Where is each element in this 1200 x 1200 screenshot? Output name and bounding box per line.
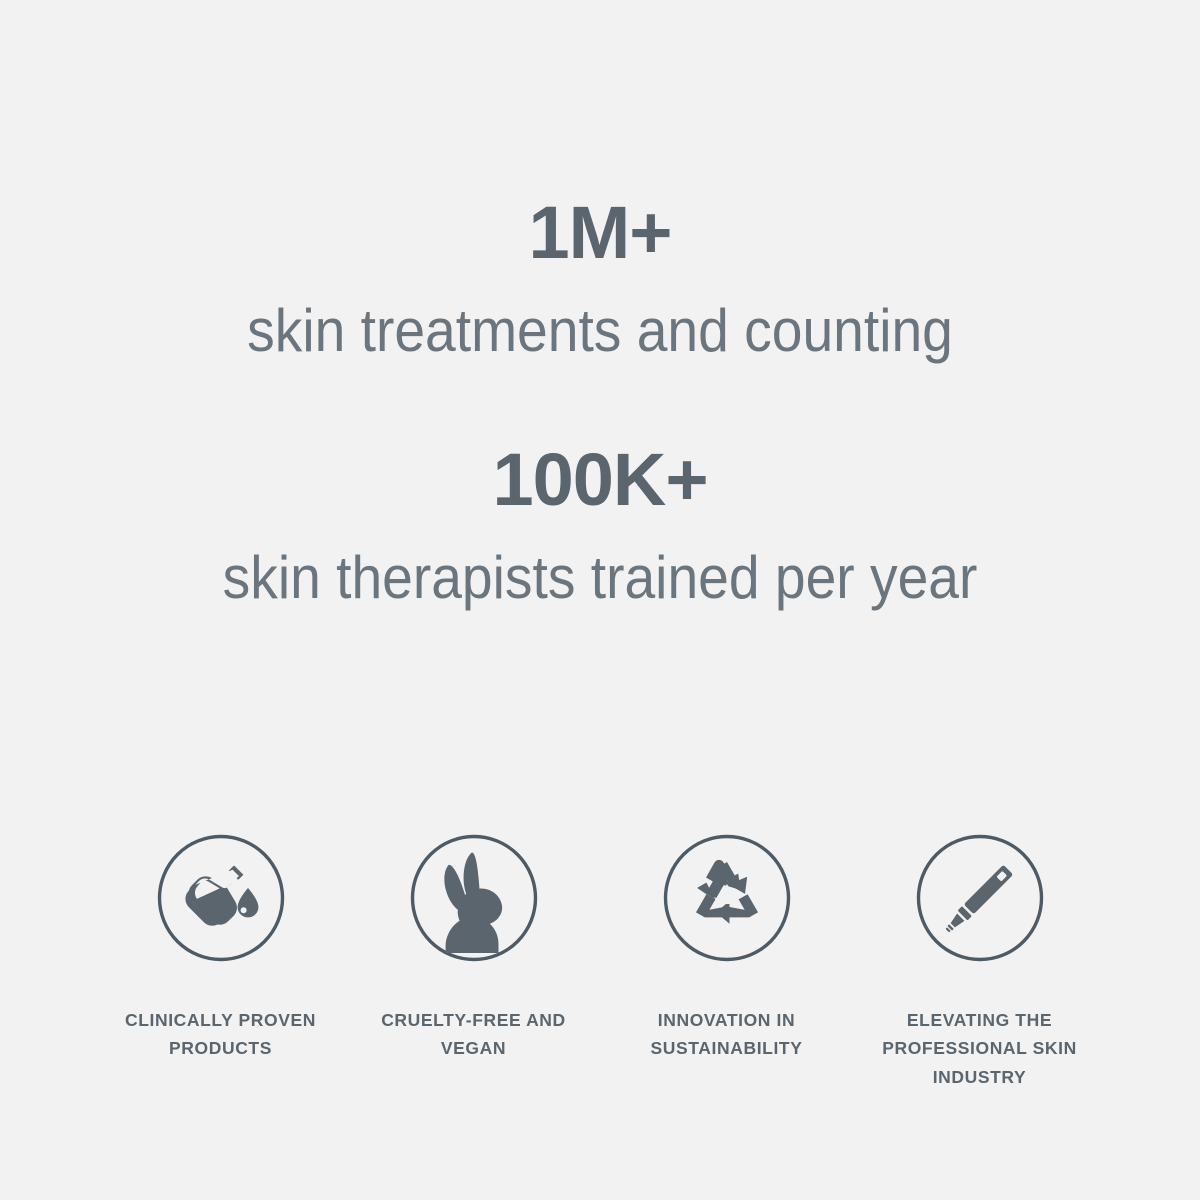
badge-label-professional-skin: ELEVATING THE PROFESSIONAL SKIN INDUSTRY bbox=[858, 1006, 1102, 1091]
stat-group-treatments: 1M+ skin treatments and counting bbox=[0, 196, 1200, 365]
badge-label-sustainability: INNOVATION IN SUSTAINABILITY bbox=[621, 1006, 833, 1063]
stat-group-therapists: 100K+ skin therapists trained per year bbox=[0, 443, 1200, 612]
badges-row: CLINICALLY PROVEN PRODUCTS CRUELTY- bbox=[94, 832, 1106, 1091]
stat-number-therapists: 100K+ bbox=[0, 443, 1200, 517]
rabbit-icon bbox=[408, 832, 540, 964]
brand-stats-panel: 1M+ skin treatments and counting 100K+ s… bbox=[0, 0, 1200, 1200]
badge-sustainability: INNOVATION IN SUSTAINABILITY bbox=[600, 832, 853, 1063]
badge-label-clinically-proven: CLINICALLY PROVEN PRODUCTS bbox=[94, 1006, 347, 1063]
badge-clinically-proven: CLINICALLY PROVEN PRODUCTS bbox=[94, 832, 347, 1063]
badge-cruelty-free: CRUELTY-FREE AND VEGAN bbox=[347, 832, 600, 1063]
treatment-pen-icon bbox=[914, 832, 1046, 964]
stats-section: 1M+ skin treatments and counting 100K+ s… bbox=[0, 196, 1200, 612]
stat-caption-treatments: skin treatments and counting bbox=[48, 296, 1152, 365]
recycle-icon bbox=[661, 832, 793, 964]
flask-droplet-icon bbox=[155, 832, 287, 964]
badge-label-cruelty-free: CRUELTY-FREE AND VEGAN bbox=[374, 1006, 574, 1063]
stat-number-treatments: 1M+ bbox=[0, 196, 1200, 270]
badge-professional-skin: ELEVATING THE PROFESSIONAL SKIN INDUSTRY bbox=[853, 832, 1106, 1091]
stat-caption-therapists: skin therapists trained per year bbox=[48, 543, 1152, 612]
